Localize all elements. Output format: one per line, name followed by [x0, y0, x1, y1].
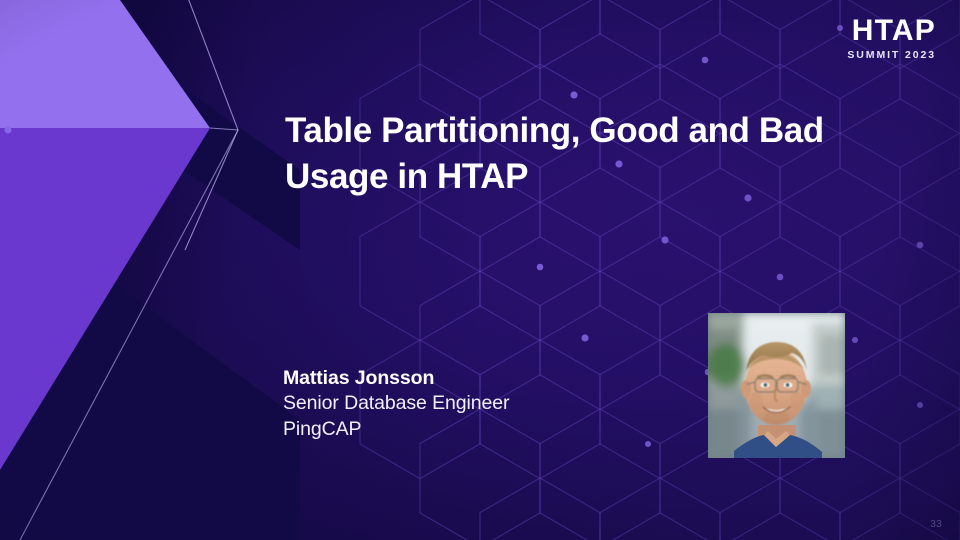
logo-wordmark: HTAP [847, 16, 936, 46]
speaker-organization: PingCAP [283, 417, 509, 442]
slide-title-line-1: Table Partitioning, Good and Bad [285, 108, 845, 154]
slide-title: Table Partitioning, Good and Bad Usage i… [285, 108, 845, 200]
speaker-photo [708, 313, 845, 458]
speaker-info: Mattias Jonsson Senior Database Engineer… [283, 366, 509, 442]
logo-tagline: SUMMIT 2023 [847, 50, 936, 61]
htap-summit-logo: HTAP SUMMIT 2023 [847, 16, 936, 61]
presentation-slide: HTAP SUMMIT 2023 Table Partitioning, Goo… [0, 0, 960, 540]
speaker-role: Senior Database Engineer [283, 391, 509, 416]
slide-title-line-2: Usage in HTAP [285, 154, 845, 200]
chevron-decoration [0, 0, 300, 540]
speaker-name: Mattias Jonsson [283, 366, 509, 391]
slide-number: 33 [930, 519, 942, 530]
